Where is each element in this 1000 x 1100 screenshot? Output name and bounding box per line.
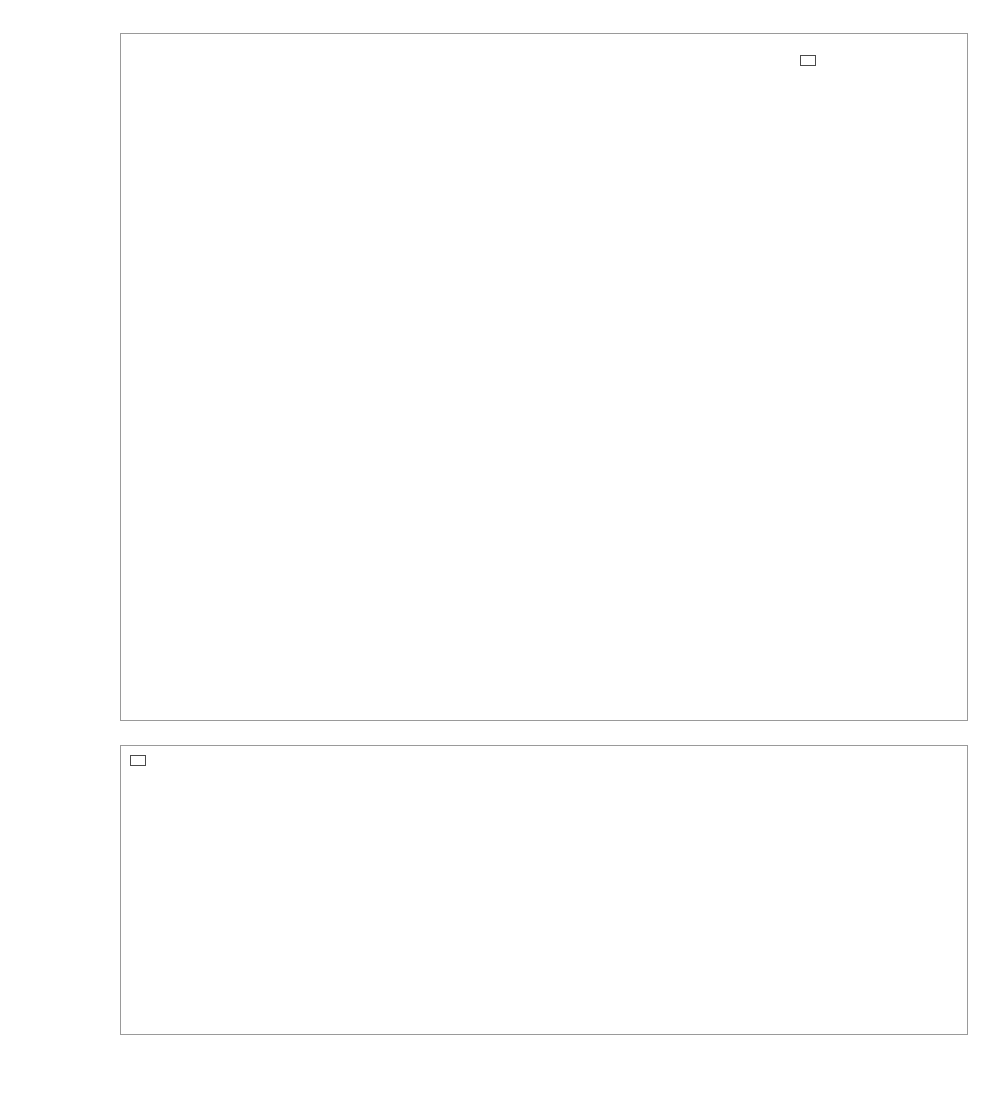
rupture-count-panel xyxy=(120,745,968,1035)
bottom-panel-legend xyxy=(130,755,146,766)
chart-figure xyxy=(0,0,1000,1100)
top-panel-legend xyxy=(800,55,816,66)
incremental-rate-panel xyxy=(120,33,968,721)
